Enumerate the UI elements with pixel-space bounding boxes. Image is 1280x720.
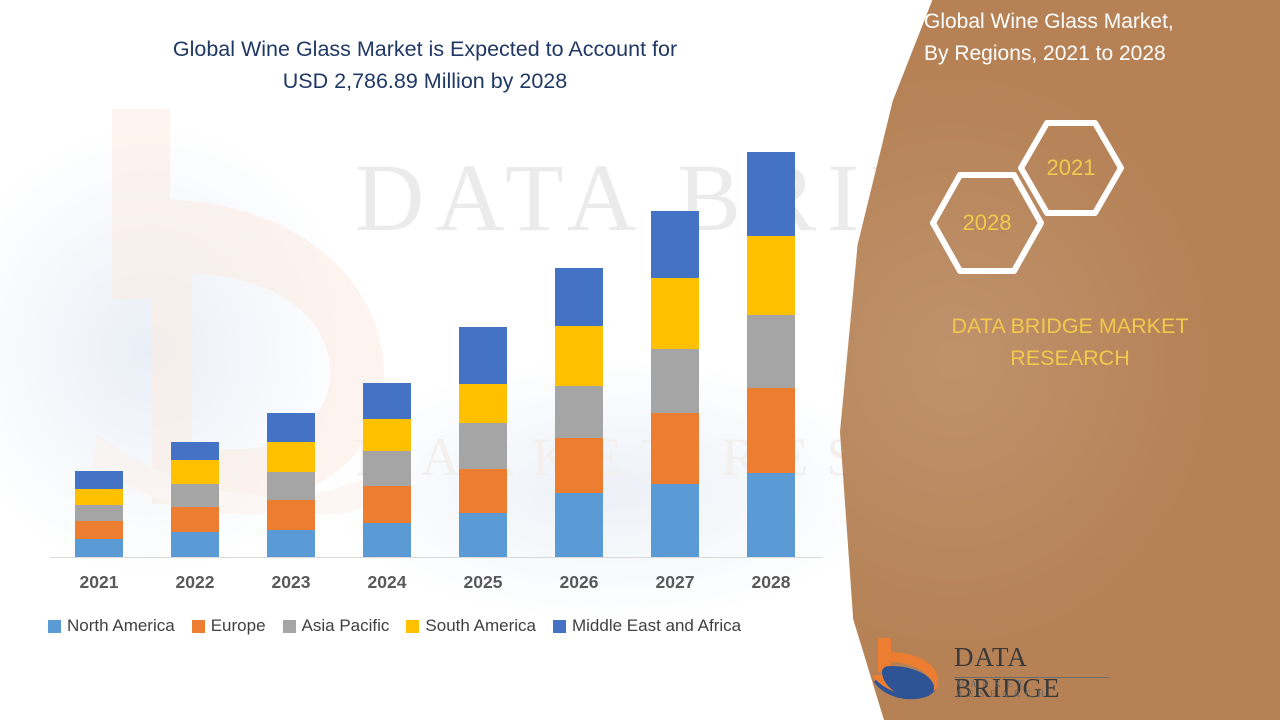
bar-segment (459, 513, 507, 557)
bar-segment (651, 278, 699, 349)
bar-segment (747, 236, 795, 316)
legend-item[interactable]: Middle East and Africa (553, 616, 741, 636)
bar-series-container (50, 150, 822, 557)
bar-segment (459, 469, 507, 514)
bar-segment (651, 349, 699, 413)
hexagon-badge-2028-label: 2028 (963, 210, 1012, 236)
bar-segment (363, 451, 411, 486)
bar-segment (459, 384, 507, 423)
x-axis-label-2022: 2022 (147, 572, 243, 593)
legend-swatch-icon (192, 620, 205, 633)
legend-swatch-icon (48, 620, 61, 633)
legend-label: Europe (211, 616, 266, 636)
bar-segment (171, 484, 219, 507)
data-bridge-logo-icon (870, 636, 946, 702)
bar-column-2021 (75, 471, 123, 557)
legend-swatch-icon (283, 620, 296, 633)
hexagon-badge-2021: 2021 (1016, 118, 1126, 218)
brand-panel-title-line-2: By Regions, 2021 to 2028 (924, 38, 1262, 70)
legend-label: Asia Pacific (302, 616, 390, 636)
bar-segment (267, 472, 315, 500)
legend-label: Middle East and Africa (572, 616, 741, 636)
bar-segment (75, 539, 123, 557)
bar-segment (171, 532, 219, 557)
infographic-root: DATA BRIDGE MARKET RESEARCH Global Wine … (0, 0, 1280, 720)
hexagon-badges: 2028 2021 (840, 118, 1280, 288)
bar-segment (363, 486, 411, 523)
bar-segment (75, 471, 123, 488)
x-axis-label-2021: 2021 (51, 572, 147, 593)
hexagon-badge-2021-label: 2021 (1047, 155, 1096, 181)
bar-segment (651, 413, 699, 484)
bar-segment (747, 315, 795, 388)
bar-segment (75, 505, 123, 521)
bar-segment (363, 523, 411, 557)
brand-panel-title: Global Wine Glass Market, By Regions, 20… (840, 0, 1280, 69)
bar-segment (171, 460, 219, 484)
bar-column-2023 (267, 413, 315, 557)
legend-item[interactable]: Europe (192, 616, 266, 636)
chart-panel: DATA BRIDGE MARKET RESEARCH Global Wine … (0, 0, 900, 720)
legend-swatch-icon (406, 620, 419, 633)
bar-segment (651, 211, 699, 279)
x-axis-label-2027: 2027 (627, 572, 723, 593)
brand-name: DATA BRIDGE MARKET RESEARCH (840, 310, 1280, 375)
bar-segment (75, 521, 123, 538)
page-title: Global Wine Glass Market is Expected to … (70, 34, 780, 97)
logo-divider (954, 677, 1109, 678)
x-axis-label-2025: 2025 (435, 572, 531, 593)
page-title-line-1: Global Wine Glass Market is Expected to … (70, 34, 780, 66)
bar-segment (747, 473, 795, 557)
bar-segment (459, 423, 507, 469)
chart-plot-area (50, 150, 840, 558)
bar-column-2024 (363, 383, 411, 557)
brand-name-line-1: DATA BRIDGE MARKET (898, 310, 1242, 342)
bar-segment (555, 438, 603, 493)
x-axis-label-2023: 2023 (243, 572, 339, 593)
bar-segment (363, 419, 411, 452)
logo-subtitle: MARKET RESEARCH (956, 680, 1120, 700)
legend-item[interactable]: Asia Pacific (283, 616, 390, 636)
x-axis-line (50, 557, 822, 558)
bar-segment (555, 326, 603, 386)
legend-label: South America (425, 616, 536, 636)
x-axis-label-2026: 2026 (531, 572, 627, 593)
bar-segment (171, 442, 219, 460)
bar-segment (459, 327, 507, 384)
legend-swatch-icon (553, 620, 566, 633)
chart-legend: North AmericaEuropeAsia PacificSouth Ame… (48, 616, 838, 636)
brand-name-line-2: RESEARCH (898, 342, 1242, 374)
bar-column-2027 (651, 211, 699, 557)
bar-segment (267, 500, 315, 529)
bar-segment (747, 152, 795, 236)
bar-segment (171, 507, 219, 532)
company-logo: DATA BRIDGE MARKET RESEARCH (870, 636, 1120, 708)
x-axis-label-2028: 2028 (723, 572, 819, 593)
bar-column-2022 (171, 442, 219, 557)
bar-column-2025 (459, 327, 507, 557)
brand-panel-title-line-1: Global Wine Glass Market, (924, 6, 1262, 38)
brand-panel: Global Wine Glass Market, By Regions, 20… (840, 0, 1280, 720)
bar-segment (555, 386, 603, 438)
legend-item[interactable]: South America (406, 616, 536, 636)
x-axis-labels: 20212022202320242025202620272028 (50, 572, 840, 602)
bar-column-2026 (555, 268, 603, 557)
x-axis-label-2024: 2024 (339, 572, 435, 593)
bar-segment (267, 442, 315, 473)
legend-label: North America (67, 616, 175, 636)
bar-segment (267, 530, 315, 557)
bar-column-2028 (747, 152, 795, 557)
legend-item[interactable]: North America (48, 616, 175, 636)
bar-segment (363, 383, 411, 419)
bar-segment (651, 484, 699, 557)
bar-segment (747, 388, 795, 473)
bar-segment (555, 268, 603, 326)
bar-segment (267, 413, 315, 441)
bar-segment (75, 489, 123, 505)
page-title-line-2: USD 2,786.89 Million by 2028 (70, 66, 780, 98)
bar-segment (555, 493, 603, 557)
